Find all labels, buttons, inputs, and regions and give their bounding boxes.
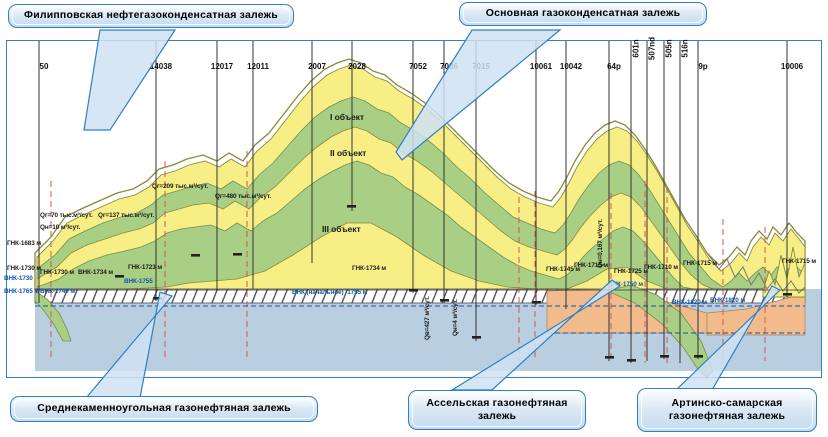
well-label[interactable]: 9p	[698, 62, 707, 71]
well-label[interactable]: 12017	[211, 62, 233, 71]
well-label[interactable]: 507nd	[648, 37, 657, 60]
geologic-cross-section-figure: Филипповская нефтегазоконденсатная залеж…	[0, 0, 828, 437]
contact-label: ГНК-1710 м	[644, 264, 678, 271]
well-label[interactable]: 505n	[665, 39, 674, 57]
callout-carbon[interactable]: Среднекаменноугольная газонефтяная залеж…	[10, 396, 318, 422]
flow-rate-label: Qн=0,167 м³/сут.	[597, 219, 604, 268]
contact-label: ВНК-1730	[4, 275, 33, 282]
flow-rate-label: Qг=70 тыс.м³/сут.	[40, 212, 93, 219]
contact-label: ВНК-1765 м	[4, 288, 39, 295]
well-label[interactable]: 10042	[560, 62, 582, 71]
callout-carbon-label: Среднекаменноугольная газонефтяная залеж…	[37, 402, 291, 415]
flow-rate-label: Qн=4 м³/сут.	[452, 299, 459, 336]
well-label[interactable]: 50	[40, 62, 49, 71]
well-label[interactable]: 64p	[607, 62, 621, 71]
flow-rate-label: Qн=10 м³/сут.	[40, 224, 80, 231]
cross-section-panel	[6, 40, 822, 378]
object-label: I объект	[330, 112, 364, 122]
callout-filippov[interactable]: Филипповская нефтегазоконденсатная залеж…	[8, 4, 294, 28]
well-label[interactable]: 601n	[632, 39, 641, 57]
flow-rate-label: Qг=137 тыс.м³/сут.	[98, 212, 154, 219]
callout-artinsk-label: Артинско-самарская газонефтяная залежь	[669, 397, 785, 423]
well-traces	[7, 41, 822, 378]
contact-label: ВНК-1755	[124, 278, 153, 285]
cross-section-plot	[7, 41, 821, 377]
callout-artinsk[interactable]: Артинско-самарская газонефтяная залежь	[637, 388, 817, 432]
contact-label: ГНК-1723 м	[128, 264, 162, 271]
contact-label: ВНК-1820 м	[710, 297, 745, 304]
contact-label: ГНК-1730 м	[7, 265, 41, 272]
object-label: II объект	[330, 148, 366, 158]
callout-main-gas-label: Основная газоконденсатная залежь	[486, 7, 681, 20]
contact-label: ГНК-1683 м	[7, 240, 41, 247]
well-label[interactable]: 10006	[781, 62, 803, 71]
contact-label: ВНК (начальное) -1755 м	[292, 289, 367, 296]
contact-label: ГНК-1715 м	[782, 258, 816, 265]
well-label[interactable]: 12011	[247, 62, 269, 71]
contact-label: ВНК-1750 м	[608, 281, 643, 288]
contact-label: ВНК-1740 м	[40, 288, 75, 295]
contact-label: ГНК-1730 м	[40, 269, 74, 276]
flow-rate-label: Qг=480 тыс.м³/сут.	[215, 193, 271, 200]
callout-main-gas[interactable]: Основная газоконденсатная залежь	[459, 2, 707, 26]
well-label[interactable]: 7052	[409, 62, 427, 71]
flow-rate-label: Qг=209 тыс.м³/сут.	[152, 183, 208, 190]
object-label: III объект	[322, 224, 361, 234]
flow-rate-label: Qв=427 м³/сут.	[424, 296, 431, 340]
contact-label: ГНК-1715 м	[683, 260, 717, 267]
well-label[interactable]: 10061	[530, 62, 552, 71]
contact-label: ГНК-1734 м	[352, 265, 386, 272]
callout-assel-label: Ассельская газонефтяная залежь	[426, 397, 567, 423]
well-label[interactable]: 7036	[440, 62, 458, 71]
callout-filippov-label: Филипповская нефтегазоконденсатная залеж…	[24, 9, 278, 22]
callout-assel[interactable]: Ассельская газонефтяная залежь	[408, 390, 586, 430]
well-label[interactable]: 516n	[681, 39, 690, 57]
contact-label: ВНК-1820 м	[672, 299, 707, 306]
contact-label: ВНК-1734 м	[78, 269, 113, 276]
well-trace-group	[39, 41, 787, 363]
well-label[interactable]: 7015	[472, 62, 490, 71]
well-label[interactable]: 2028	[348, 62, 366, 71]
well-label[interactable]: 14038	[150, 62, 172, 71]
contact-label: ГНК-1725 м	[614, 268, 648, 275]
well-label[interactable]: 2007	[308, 62, 326, 71]
